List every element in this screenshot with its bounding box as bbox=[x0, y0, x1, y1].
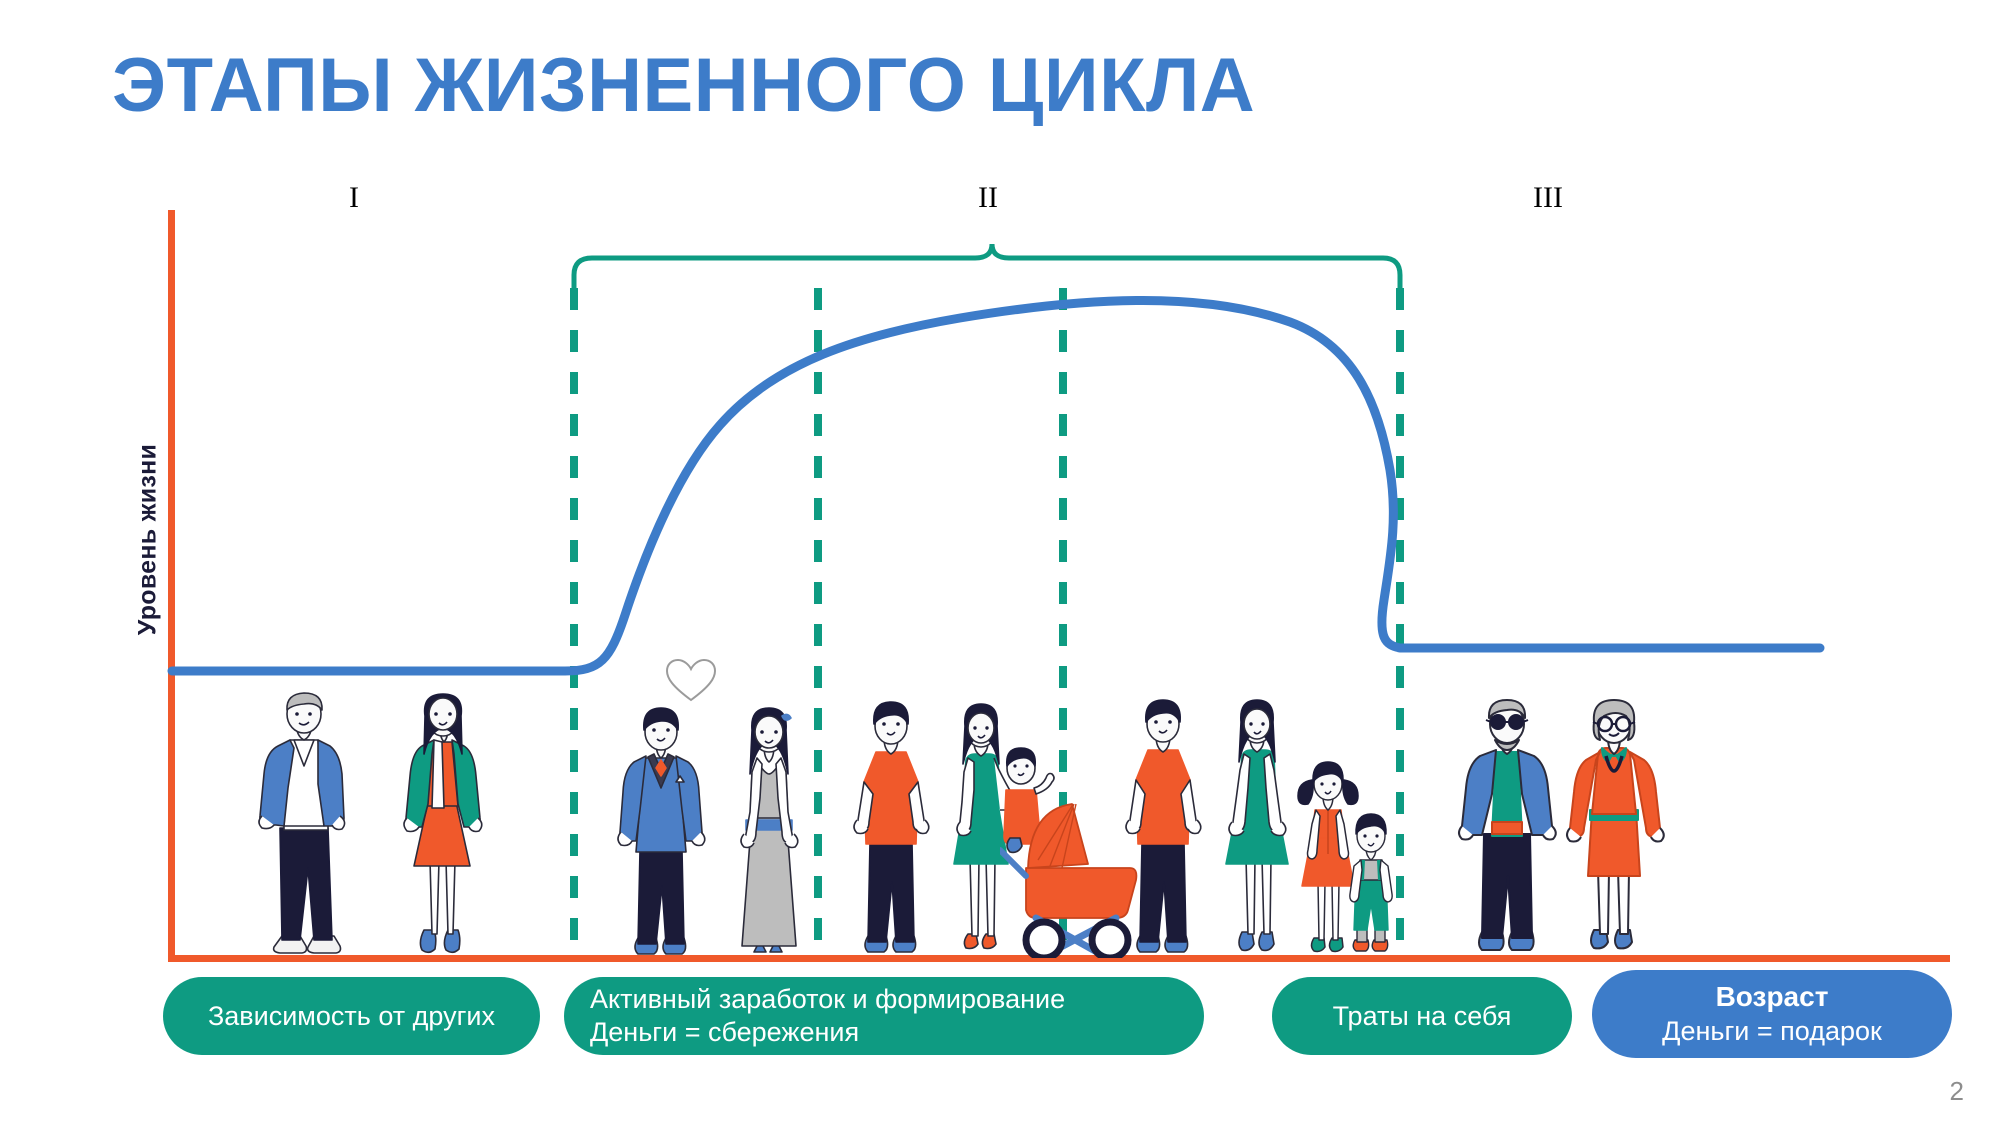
figure-wedding-groom bbox=[608, 700, 718, 958]
pill-2-line-2: Деньги = сбережения bbox=[590, 1016, 859, 1049]
figure-young-man bbox=[240, 688, 360, 956]
stage-label-dependency[interactable]: Зависимость от других bbox=[163, 977, 540, 1055]
figure-young-woman bbox=[388, 690, 498, 956]
stage-label-self-spending[interactable]: Траты на себя bbox=[1272, 977, 1572, 1055]
page-title: ЭТАПЫ ЖИЗНЕННОГО ЦИКЛА bbox=[112, 48, 1255, 124]
figure-elderly-man bbox=[1448, 692, 1566, 956]
icon-heart bbox=[664, 658, 718, 704]
pill-2-line-1: Активный заработок и формирование bbox=[590, 983, 1065, 1016]
standard-of-living-curve bbox=[172, 300, 1820, 671]
pill-4-line-1: Возраст bbox=[1716, 980, 1829, 1014]
pill-1-line-1: Зависимость от других bbox=[208, 1000, 495, 1033]
stage-two-brace bbox=[574, 244, 1400, 295]
stage-numeral-1: I bbox=[314, 183, 394, 213]
y-axis-label: Уровень жизни bbox=[134, 390, 163, 690]
pill-3-line-1: Траты на себя bbox=[1333, 1000, 1512, 1033]
stage-label-earning[interactable]: Активный заработок и формирование Деньги… bbox=[564, 977, 1204, 1055]
figure-wedding-bride bbox=[716, 702, 826, 960]
stage-numeral-2: II bbox=[948, 183, 1028, 213]
y-axis-line bbox=[168, 210, 175, 962]
stage-numeral-3: III bbox=[1508, 183, 1588, 213]
pill-4-line-2: Деньги = подарок bbox=[1662, 1015, 1882, 1048]
figure-son bbox=[1330, 808, 1412, 956]
page-number: 2 bbox=[1950, 1076, 1964, 1107]
stage-label-age-gift[interactable]: Возраст Деньги = подарок bbox=[1592, 970, 1952, 1058]
figure-elderly-woman bbox=[1556, 694, 1674, 956]
